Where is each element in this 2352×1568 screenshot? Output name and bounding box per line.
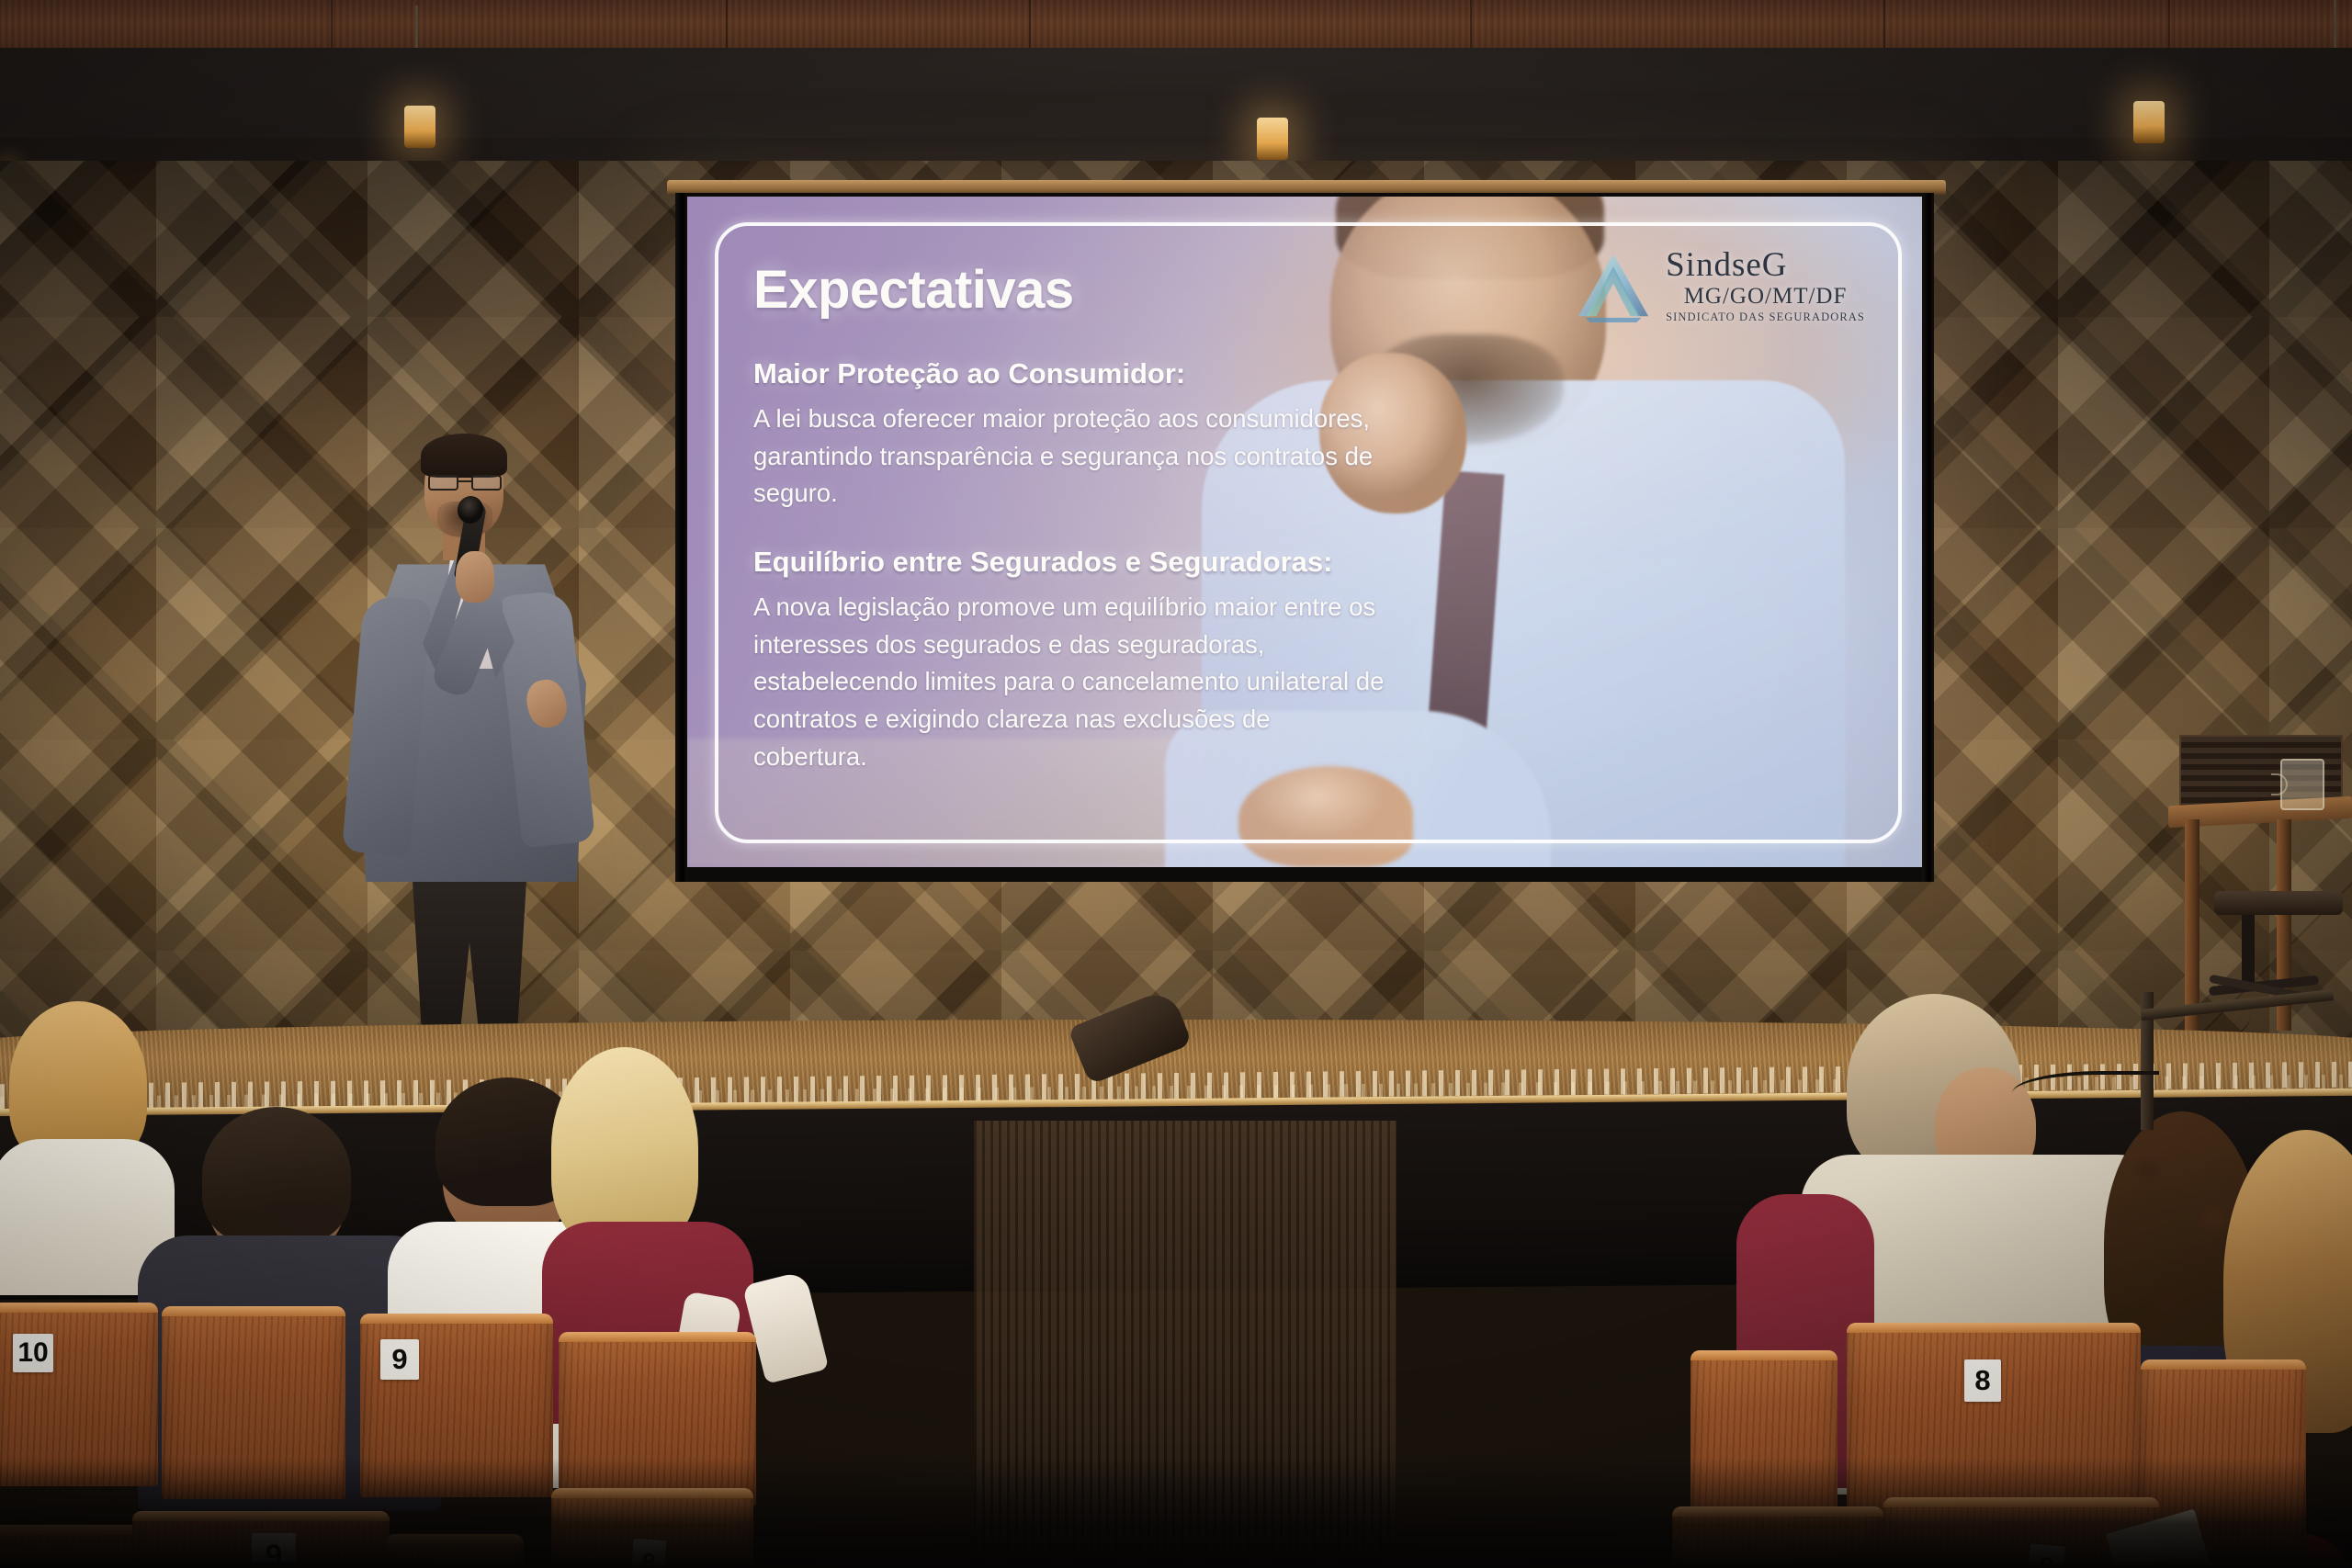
ceiling-hanger xyxy=(2334,0,2336,55)
speaker-presenter xyxy=(347,441,595,1047)
screen-edge-right xyxy=(1922,193,1934,882)
ceiling-spotlight xyxy=(1257,118,1288,160)
triangle-loop-icon xyxy=(1574,251,1653,322)
ceiling-spotlight xyxy=(2133,101,2165,143)
speaker-hand xyxy=(456,551,494,603)
speaker-hair xyxy=(421,434,507,478)
person-hair xyxy=(202,1107,351,1245)
glasses-icon xyxy=(428,475,502,491)
slide-title: Expectativas xyxy=(753,259,1396,321)
seat-number-plate: 9 xyxy=(380,1339,419,1380)
slide-heading: Equilíbrio entre Segurados e Seguradoras… xyxy=(753,546,1396,579)
slide-heading: Maior Proteção ao Consumidor: xyxy=(753,357,1396,390)
screen-edge-left xyxy=(675,193,687,882)
slide-body: A lei busca oferecer maior proteção aos … xyxy=(753,400,1387,513)
logo-regions: MG/GO/MT/DF xyxy=(1666,282,1865,310)
projection-screen: SindseG MG/GO/MT/DF SINDICATO DAS SEGURA… xyxy=(687,197,1922,867)
person-hair xyxy=(551,1047,698,1249)
slide-text-content: Expectativas Maior Proteção ao Consumido… xyxy=(753,259,1396,809)
seat-number-plate: 8 xyxy=(1964,1359,2001,1402)
sindseg-logo: SindseG MG/GO/MT/DF SINDICATO DAS SEGURA… xyxy=(1574,248,1865,324)
ceiling-spotlight xyxy=(404,106,435,148)
slide-block: Equilíbrio entre Segurados e Seguradoras… xyxy=(753,546,1396,775)
equipment-cable xyxy=(2012,1071,2159,1108)
logo-name: SindseG xyxy=(1666,248,1865,282)
slide-block: Maior Proteção ao Consumidor: A lei busc… xyxy=(753,357,1396,513)
logo-tagline: SINDICATO DAS SEGURADORAS xyxy=(1666,310,1865,324)
seat-number-plate: 10 xyxy=(13,1334,53,1372)
audience-area: 10 9 9 C 8 xyxy=(0,1010,2352,1568)
slide-body: A nova legislação promove um equilíbrio … xyxy=(753,589,1387,775)
auditorium-scene: SindseG MG/GO/MT/DF SINDICATO DAS SEGURA… xyxy=(0,0,2352,1568)
